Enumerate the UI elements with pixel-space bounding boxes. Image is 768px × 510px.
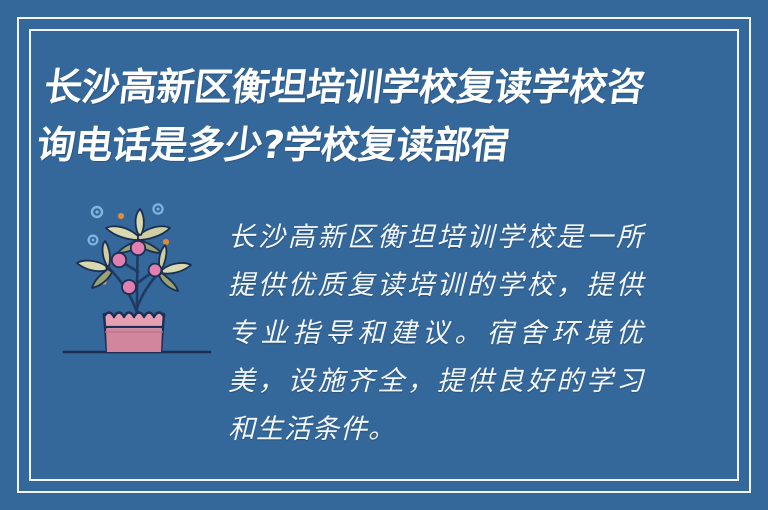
page-title: 长沙高新区衡坦培训学校复读学校咨询电话是多少?学校复读部宿 <box>34 58 648 174</box>
poster-canvas: 长沙高新区衡坦培训学校复读学校咨询电话是多少?学校复读部宿 <box>0 0 768 510</box>
flower-pot <box>104 313 164 353</box>
body-paragraph: 长沙高新区衡坦培训学校是一所提供优质复读培训的学校，提供专业指导和建议。宿舍环境… <box>228 214 644 454</box>
potted-plant-illustration <box>58 196 218 364</box>
